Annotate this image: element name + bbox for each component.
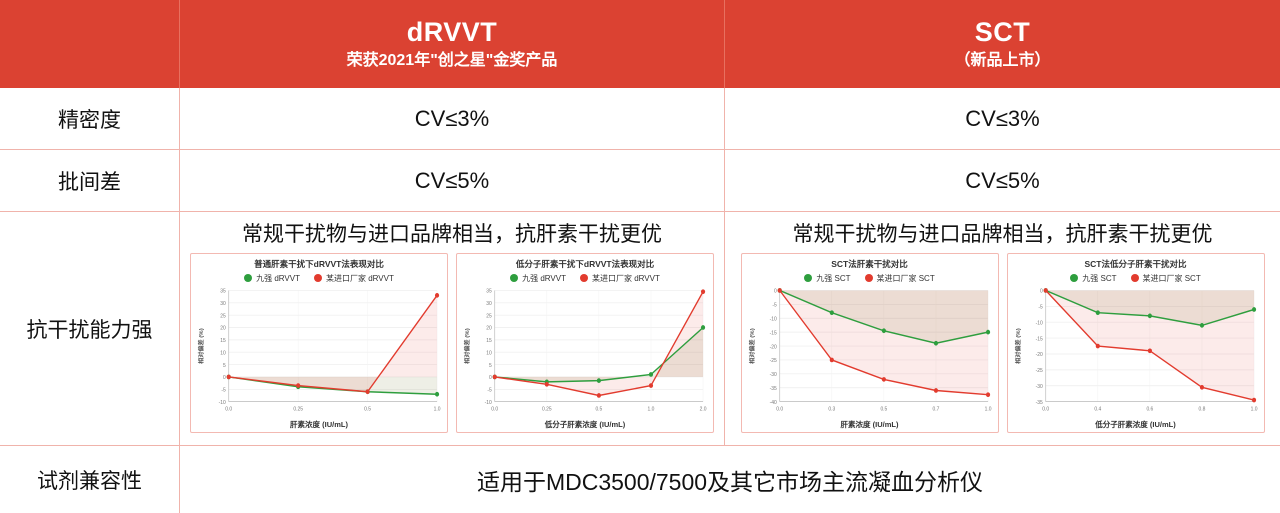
svg-text:-30: -30 — [769, 371, 776, 377]
chart-plot-area: -40-35-30-25-20-15-10-500.00.30.50.71.0相… — [746, 286, 994, 422]
legend-item[interactable]: 某进口厂家 dRVVT — [314, 273, 394, 284]
legend-item[interactable]: 九强 dRVVT — [244, 273, 300, 284]
legend-label: 九强 dRVVT — [522, 273, 566, 284]
chart-title: 普通肝素干扰下dRVVT法表现对比 — [195, 260, 443, 269]
row-label-interference: 抗干扰能力强 — [0, 212, 180, 446]
legend-item[interactable]: 九强 SCT — [804, 273, 850, 284]
legend-item[interactable]: 九强 SCT — [1070, 273, 1116, 284]
cell-batch-drvvt: CV≤5% — [180, 150, 725, 212]
svg-text:-20: -20 — [1035, 352, 1042, 358]
svg-text:20: 20 — [486, 325, 492, 331]
legend-label: 九强 dRVVT — [256, 273, 300, 284]
svg-text:0.8: 0.8 — [1198, 406, 1205, 412]
chart-heparin-sct: SCT法肝素干扰对比九强 SCT某进口厂家 SCT-40-35-30-25-20… — [741, 253, 999, 433]
chart-heparin-drvvt: 普通肝素干扰下dRVVT法表现对比九强 dRVVT某进口厂家 dRVVT-10-… — [190, 253, 448, 433]
legend-label: 九强 SCT — [816, 273, 850, 284]
cell-interference-drvvt: 常规干扰物与进口品牌相当，抗肝素干扰更优 普通肝素干扰下dRVVT法表现对比九强… — [180, 212, 725, 446]
svg-text:0: 0 — [489, 374, 492, 380]
svg-text:相对偏差 (%): 相对偏差 (%) — [463, 328, 471, 364]
legend-marker-icon — [1070, 274, 1078, 282]
svg-text:0.0: 0.0 — [1042, 406, 1049, 412]
legend-marker-icon — [804, 274, 812, 282]
chart-legend: 九强 dRVVT某进口厂家 dRVVT — [195, 273, 443, 284]
header-sct: SCT （新品上市） — [725, 0, 1280, 88]
legend-label: 某进口厂家 dRVVT — [326, 273, 394, 284]
svg-text:0.4: 0.4 — [1094, 406, 1101, 412]
legend-label: 某进口厂家 SCT — [877, 273, 935, 284]
legend-marker-icon — [244, 274, 252, 282]
svg-text:0.0: 0.0 — [491, 406, 498, 412]
svg-text:-5: -5 — [221, 387, 225, 393]
legend-item[interactable]: 某进口厂家 SCT — [1131, 273, 1201, 284]
header-sct-title: SCT — [975, 18, 1031, 48]
cell-interference-sct: 常规干扰物与进口品牌相当，抗肝素干扰更优 SCT法肝素干扰对比九强 SCT某进口… — [725, 212, 1280, 446]
svg-text:0: 0 — [1040, 288, 1043, 294]
legend-item[interactable]: 某进口厂家 SCT — [865, 273, 935, 284]
legend-marker-icon — [1131, 274, 1139, 282]
chart-lmwh-drvvt: 低分子肝素干扰下dRVVT法表现对比九强 dRVVT某进口厂家 dRVVT-10… — [456, 253, 714, 433]
svg-text:0: 0 — [223, 374, 226, 380]
legend-item[interactable]: 某进口厂家 dRVVT — [580, 273, 660, 284]
row-label-batch-variation: 批间差 — [0, 150, 180, 212]
svg-text:0.0: 0.0 — [225, 406, 232, 412]
svg-text:1.0: 1.0 — [1250, 406, 1257, 412]
legend-label: 某进口厂家 SCT — [1143, 273, 1201, 284]
svg-text:-25: -25 — [1035, 367, 1042, 373]
svg-text:25: 25 — [486, 313, 492, 319]
svg-text:-25: -25 — [769, 357, 776, 363]
svg-text:10: 10 — [220, 350, 226, 356]
svg-text:-35: -35 — [1035, 399, 1042, 405]
svg-text:-10: -10 — [1035, 320, 1042, 326]
legend-marker-icon — [580, 274, 588, 282]
svg-text:-30: -30 — [1035, 383, 1042, 389]
svg-text:0.7: 0.7 — [932, 406, 939, 412]
svg-text:-5: -5 — [1038, 304, 1042, 310]
svg-text:20: 20 — [220, 325, 226, 331]
svg-text:25: 25 — [220, 313, 226, 319]
svg-text:-20: -20 — [769, 344, 776, 350]
svg-text:35: 35 — [486, 288, 492, 294]
legend-item[interactable]: 九强 dRVVT — [510, 273, 566, 284]
legend-marker-icon — [865, 274, 873, 282]
svg-text:-40: -40 — [769, 399, 776, 405]
svg-text:-5: -5 — [772, 302, 776, 308]
interference-sct-text: 常规干扰物与进口品牌相当，抗肝素干扰更优 — [793, 222, 1213, 247]
svg-text:-10: -10 — [219, 399, 226, 405]
cell-batch-sct: CV≤5% — [725, 150, 1280, 212]
chart-pair-sct: SCT法肝素干扰对比九强 SCT某进口厂家 SCT-40-35-30-25-20… — [725, 253, 1280, 433]
svg-text:相对偏差 (%): 相对偏差 (%) — [197, 328, 205, 364]
svg-text:-35: -35 — [769, 385, 776, 391]
svg-text:0: 0 — [774, 288, 777, 294]
legend-label: 九强 SCT — [1082, 273, 1116, 284]
svg-text:0.3: 0.3 — [828, 406, 835, 412]
svg-text:相对偏差 (%): 相对偏差 (%) — [1014, 328, 1022, 364]
chart-title: SCT法肝素干扰对比 — [746, 260, 994, 269]
svg-text:15: 15 — [486, 337, 492, 343]
legend-marker-icon — [510, 274, 518, 282]
chart-title: 低分子肝素干扰下dRVVT法表现对比 — [461, 260, 709, 269]
legend-label: 某进口厂家 dRVVT — [592, 273, 660, 284]
chart-plot-area: -10-5051015202530350.00.250.51.02.0相对偏差 … — [461, 286, 709, 422]
svg-text:0.5: 0.5 — [364, 406, 371, 412]
svg-text:0.6: 0.6 — [1146, 406, 1153, 412]
header-drvvt: dRVVT 荣获2021年"创之星"金奖产品 — [180, 0, 725, 88]
svg-text:1.0: 1.0 — [648, 406, 655, 412]
svg-text:30: 30 — [220, 300, 226, 306]
chart-legend: 九强 SCT某进口厂家 SCT — [746, 273, 994, 284]
svg-text:-5: -5 — [487, 387, 491, 393]
chart-pair-drvvt: 普通肝素干扰下dRVVT法表现对比九强 dRVVT某进口厂家 dRVVT-10-… — [180, 253, 724, 433]
chart-legend: 九强 dRVVT某进口厂家 dRVVT — [461, 273, 709, 284]
header-corner-cell — [0, 0, 180, 88]
legend-marker-icon — [314, 274, 322, 282]
svg-text:0.25: 0.25 — [542, 406, 552, 412]
svg-text:-15: -15 — [1035, 336, 1042, 342]
chart-plot-area: -35-30-25-20-15-10-500.00.40.60.81.0相对偏差… — [1012, 286, 1260, 422]
svg-text:-10: -10 — [485, 399, 492, 405]
svg-text:1.0: 1.0 — [984, 406, 991, 412]
svg-text:-15: -15 — [769, 330, 776, 336]
svg-text:5: 5 — [489, 362, 492, 368]
header-drvvt-title: dRVVT — [407, 18, 498, 48]
header-sct-subtitle: （新品上市） — [954, 51, 1050, 70]
svg-text:相对偏差 (%): 相对偏差 (%) — [748, 328, 756, 364]
svg-text:2.0: 2.0 — [700, 406, 707, 412]
svg-text:30: 30 — [486, 300, 492, 306]
cell-precision-drvvt: CV≤3% — [180, 88, 725, 150]
cell-compatibility-text: 适用于MDC3500/7500及其它市场主流凝血分析仪 — [180, 446, 1280, 513]
svg-text:5: 5 — [223, 362, 226, 368]
svg-text:15: 15 — [220, 337, 226, 343]
svg-text:0.5: 0.5 — [595, 406, 602, 412]
svg-text:-10: -10 — [769, 316, 776, 322]
row-label-compatibility: 试剂兼容性 — [0, 446, 180, 513]
chart-plot-area: -10-5051015202530350.00.250.51.0相对偏差 (%) — [195, 286, 443, 422]
chart-lmwh-sct: SCT法低分子肝素干扰对比九强 SCT某进口厂家 SCT-35-30-25-20… — [1007, 253, 1265, 433]
header-drvvt-subtitle: 荣获2021年"创之星"金奖产品 — [347, 51, 558, 70]
cell-precision-sct: CV≤3% — [725, 88, 1280, 150]
svg-text:0.0: 0.0 — [776, 406, 783, 412]
interference-drvvt-text: 常规干扰物与进口品牌相当，抗肝素干扰更优 — [242, 222, 662, 247]
svg-text:0.5: 0.5 — [880, 406, 887, 412]
svg-text:0.25: 0.25 — [293, 406, 303, 412]
svg-text:1.0: 1.0 — [434, 406, 441, 412]
row-label-precision: 精密度 — [0, 88, 180, 150]
chart-title: SCT法低分子肝素干扰对比 — [1012, 260, 1260, 269]
comparison-table: dRVVT 荣获2021年"创之星"金奖产品 SCT （新品上市） 精密度 CV… — [0, 0, 1280, 513]
chart-legend: 九强 SCT某进口厂家 SCT — [1012, 273, 1260, 284]
svg-text:35: 35 — [220, 288, 226, 294]
svg-text:10: 10 — [486, 350, 492, 356]
